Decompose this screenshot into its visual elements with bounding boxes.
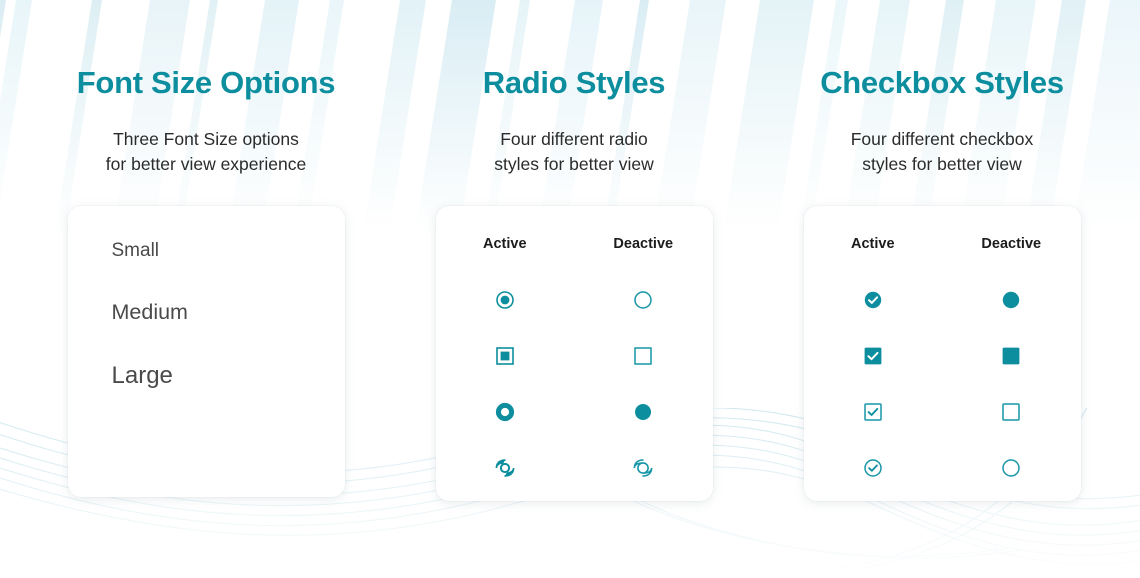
radio-filled-circle-icon[interactable] xyxy=(574,402,713,422)
radio-row xyxy=(436,328,713,384)
page-title-checkbox-styles: Checkbox Styles xyxy=(820,66,1064,100)
checkbox-rows xyxy=(804,272,1081,496)
radio-empty-square-icon[interactable] xyxy=(574,346,713,366)
checkbox-row xyxy=(804,272,1081,328)
radio-swirl-outline-icon[interactable] xyxy=(574,457,713,479)
radio-header-deactive: Deactive xyxy=(574,236,713,252)
checkbox-header-deactive: Deactive xyxy=(942,236,1081,252)
radio-empty-circle-icon[interactable] xyxy=(574,290,713,310)
card-checkbox-styles: Active Deactive xyxy=(804,206,1081,501)
column-checkbox-styles: Checkbox Styles Four different checkbox … xyxy=(758,0,1126,578)
card-font-size-options: Small Medium Large xyxy=(68,206,345,497)
radio-dot-in-ring-icon[interactable] xyxy=(436,290,575,310)
subtitle-checkbox-styles: Four different checkbox styles for bette… xyxy=(851,127,1034,178)
circle-filled-icon[interactable] xyxy=(942,290,1081,310)
radio-header-active: Active xyxy=(436,236,575,252)
radio-rows xyxy=(436,272,713,496)
square-outline-icon[interactable] xyxy=(942,402,1081,422)
subtitle-radio-styles: Four different radio styles for better v… xyxy=(494,127,654,178)
column-radio-styles: Radio Styles Four different radio styles… xyxy=(390,0,758,578)
radio-column-headers: Active Deactive xyxy=(436,236,713,252)
radio-row xyxy=(436,440,713,496)
font-size-option-medium[interactable]: Medium xyxy=(112,300,345,325)
radio-donut-thick-icon[interactable] xyxy=(436,402,575,422)
check-square-outline-icon[interactable] xyxy=(804,402,943,422)
check-circle-outline-icon[interactable] xyxy=(804,458,943,478)
card-radio-styles: Active Deactive xyxy=(436,206,713,501)
subtitle-font-size-options: Three Font Size options for better view … xyxy=(106,127,306,178)
checkbox-row xyxy=(804,384,1081,440)
checkbox-row xyxy=(804,328,1081,384)
font-size-option-small[interactable]: Small xyxy=(112,240,345,262)
page-content: Font Size Options Three Font Size option… xyxy=(0,0,1140,578)
circle-outline-icon[interactable] xyxy=(942,458,1081,478)
page-title-radio-styles: Radio Styles xyxy=(483,66,665,100)
square-filled-icon[interactable] xyxy=(942,346,1081,366)
page-title-font-size-options: Font Size Options xyxy=(77,66,335,100)
radio-row xyxy=(436,272,713,328)
radio-square-in-square-icon[interactable] xyxy=(436,346,575,366)
radio-row xyxy=(436,384,713,440)
checkbox-row xyxy=(804,440,1081,496)
check-circle-filled-icon[interactable] xyxy=(804,290,943,310)
font-size-option-large[interactable]: Large xyxy=(112,362,345,390)
column-font-size-options: Font Size Options Three Font Size option… xyxy=(22,0,390,578)
checkbox-header-active: Active xyxy=(804,236,943,252)
radio-swirl-filled-icon[interactable] xyxy=(436,457,575,479)
check-square-filled-icon[interactable] xyxy=(804,346,943,366)
checkbox-column-headers: Active Deactive xyxy=(804,236,1081,252)
